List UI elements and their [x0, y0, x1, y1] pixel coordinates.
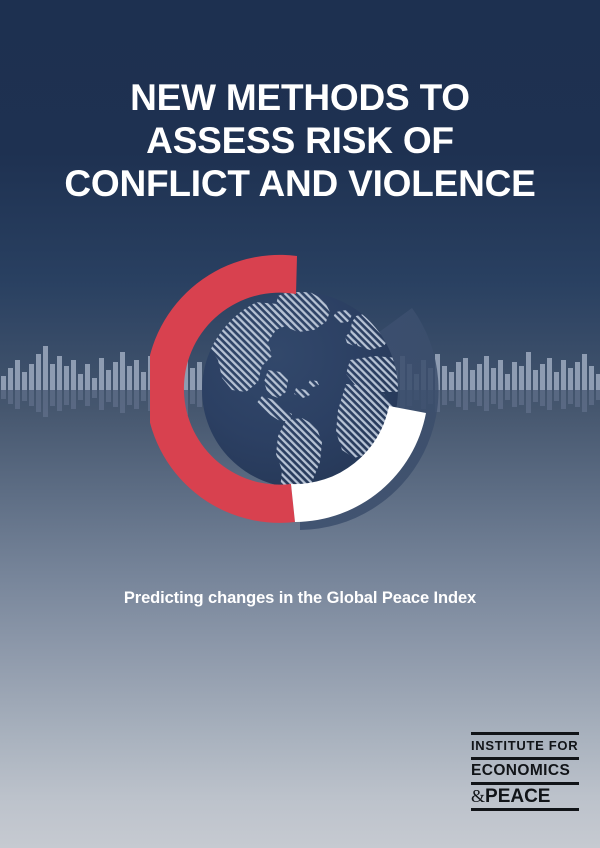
- title-line-2: ASSESS RISK OF: [0, 119, 600, 162]
- waveform-bar: [547, 358, 552, 390]
- waveform-bar: [120, 352, 125, 390]
- waveform-bar: [99, 358, 104, 390]
- waveform-bar: [134, 360, 139, 390]
- waveform-bar: [575, 362, 580, 390]
- waveform-bar: [106, 370, 111, 390]
- page-title: NEW METHODS TO ASSESS RISK OF CONFLICT A…: [0, 76, 600, 205]
- waveform-bar-reflection: [113, 390, 118, 407]
- waveform-bar-reflection: [568, 390, 573, 404]
- waveform-bar: [505, 374, 510, 390]
- waveform-bar: [582, 354, 587, 390]
- waveform-bar: [50, 364, 55, 390]
- waveform-bar-reflection: [484, 390, 489, 411]
- logo-word-peace: PEACE: [485, 786, 550, 807]
- waveform-bar: [526, 352, 531, 390]
- waveform-bar: [8, 368, 13, 390]
- waveform-bar-reflection: [575, 390, 580, 407]
- waveform-bar-reflection: [92, 390, 97, 398]
- waveform-bar: [589, 366, 594, 390]
- waveform-bar: [477, 364, 482, 390]
- waveform-bar-reflection: [589, 390, 594, 405]
- waveform-bar-reflection: [512, 390, 517, 407]
- waveform-bar-reflection: [554, 390, 559, 401]
- waveform-bar-reflection: [71, 390, 76, 409]
- waveform-bar-reflection: [519, 390, 524, 405]
- waveform-bar-reflection: [78, 390, 83, 400]
- waveform-bar: [78, 374, 83, 390]
- globe-emblem: [150, 238, 450, 538]
- logo-line-and-peace: &PEACE: [471, 785, 579, 808]
- waveform-bar: [533, 370, 538, 390]
- waveform-bar-reflection: [526, 390, 531, 413]
- title-line-1: NEW METHODS TO: [0, 76, 600, 119]
- waveform-bar-reflection: [533, 390, 538, 402]
- waveform-bar-reflection: [582, 390, 587, 412]
- waveform-bar: [15, 360, 20, 390]
- waveform-bar-reflection: [99, 390, 104, 410]
- waveform-bar: [519, 366, 524, 390]
- waveform-bar: [113, 362, 118, 390]
- waveform-bar-reflection: [85, 390, 90, 406]
- waveform-bar-reflection: [64, 390, 69, 405]
- waveform-bar-reflection: [106, 390, 111, 402]
- waveform-bar-reflection: [29, 390, 34, 406]
- waveform-bar: [540, 364, 545, 390]
- waveform-bar: [92, 378, 97, 390]
- waveform-bar: [484, 356, 489, 390]
- waveform-bar-reflection: [540, 390, 545, 406]
- title-line-3: CONFLICT AND VIOLENCE: [0, 162, 600, 205]
- waveform-bar-reflection: [547, 390, 552, 410]
- waveform-bar-reflection: [470, 390, 475, 402]
- waveform-bar: [512, 362, 517, 390]
- ampersand-icon: &: [471, 786, 485, 806]
- waveform-bar: [596, 374, 600, 390]
- waveform-bar-reflection: [477, 390, 482, 406]
- waveform-bar-reflection: [15, 390, 20, 409]
- waveform-bar: [554, 372, 559, 390]
- waveform-bar-reflection: [561, 390, 566, 409]
- waveform-bar-reflection: [456, 390, 461, 407]
- waveform-bar-reflection: [498, 390, 503, 409]
- waveform-bar-reflection: [8, 390, 13, 404]
- waveform-bar: [498, 360, 503, 390]
- waveform-bar-reflection: [127, 390, 132, 405]
- waveform-bar: [463, 358, 468, 390]
- waveform-bar: [561, 360, 566, 390]
- waveform-bar: [491, 368, 496, 390]
- waveform-bar-reflection: [36, 390, 41, 412]
- waveform-bar: [1, 376, 6, 390]
- waveform-bar-reflection: [50, 390, 55, 406]
- waveform-bar-reflection: [505, 390, 510, 400]
- waveform-bar: [470, 370, 475, 390]
- logo-line-institute-for: INSTITUTE FOR: [471, 735, 579, 757]
- waveform-bar-reflection: [134, 390, 139, 409]
- waveform-bar: [57, 356, 62, 390]
- logo-line-economics: ECONOMICS: [471, 760, 579, 782]
- waveform-bar-reflection: [57, 390, 62, 411]
- iep-logo: INSTITUTE FOR ECONOMICS &PEACE: [471, 732, 579, 811]
- waveform-bar: [71, 360, 76, 390]
- waveform-bar: [64, 366, 69, 390]
- waveform-bar-reflection: [596, 390, 600, 400]
- waveform-bar-reflection: [141, 390, 146, 401]
- waveform-bar-reflection: [463, 390, 468, 410]
- waveform-bar: [456, 362, 461, 390]
- waveform-bar-reflection: [1, 390, 6, 399]
- waveform-bar-reflection: [43, 390, 48, 417]
- waveform-bar-reflection: [120, 390, 125, 413]
- waveform-bar: [568, 368, 573, 390]
- waveform-bar-reflection: [22, 390, 27, 401]
- report-cover: NEW METHODS TO ASSESS RISK OF CONFLICT A…: [0, 0, 600, 848]
- waveform-bar: [127, 366, 132, 390]
- waveform-bar: [43, 346, 48, 390]
- waveform-bar-reflection: [491, 390, 496, 404]
- subtitle: Predicting changes in the Global Peace I…: [0, 589, 600, 608]
- waveform-bar: [85, 364, 90, 390]
- waveform-bar: [22, 372, 27, 390]
- logo-rule-bottom: [471, 808, 579, 811]
- waveform-bar: [36, 354, 41, 390]
- waveform-bar: [29, 364, 34, 390]
- waveform-bar: [141, 372, 146, 390]
